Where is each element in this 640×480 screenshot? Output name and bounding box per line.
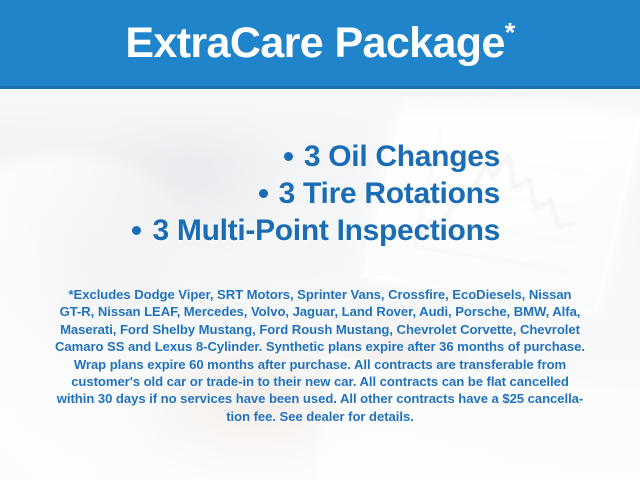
- feature-item-label: 3 Tire Rotations: [279, 177, 500, 210]
- page-title-text: ExtraCare Package: [125, 19, 504, 67]
- disclaimer-line: GT-R, Nissan LEAF, Mercedes, Volvo, Jagu…: [22, 303, 618, 320]
- disclaimer-line: Maserati, Ford Shelby Mustang, Ford Rous…: [22, 321, 618, 338]
- bullet-dot-icon: [132, 226, 141, 235]
- disclaimer-line: *Excludes Dodge Viper, SRT Motors, Sprin…: [22, 286, 618, 303]
- disclaimer-line: Wrap plans expire 60 months after purcha…: [22, 356, 618, 373]
- feature-item-label: 3 Multi-Point Inspections: [152, 214, 500, 247]
- title-asterisk: *: [505, 17, 515, 47]
- extracare-promo-card: ExtraCare Package* 3 Oil Changes 3 Tire …: [0, 0, 640, 480]
- disclaimer-line: within 30 days if no services have been …: [22, 390, 618, 407]
- disclaimer-line: Camaro SS and Lexus 8-Cylinder. Syntheti…: [22, 338, 618, 355]
- bullet-dot-icon: [284, 152, 293, 161]
- disclaimer-line: tion fee. See dealer for details.: [22, 408, 618, 425]
- feature-item-label: 3 Oil Changes: [304, 140, 500, 173]
- page-title: ExtraCare Package*: [125, 22, 514, 65]
- disclaimer-line: customer's old car or trade-in to their …: [22, 373, 618, 390]
- disclaimer-text: *Excludes Dodge Viper, SRT Motors, Sprin…: [22, 286, 618, 425]
- header-banner: ExtraCare Package*: [0, 0, 640, 89]
- bullet-dot-icon: [259, 189, 268, 198]
- feature-list: 3 Oil Changes 3 Tire Rotations 3 Multi-P…: [0, 138, 640, 249]
- feature-item-oil-changes: 3 Oil Changes: [0, 138, 500, 175]
- background-top-fade: [0, 88, 640, 122]
- feature-item-multi-point-inspections: 3 Multi-Point Inspections: [0, 212, 500, 249]
- feature-item-tire-rotations: 3 Tire Rotations: [0, 175, 500, 212]
